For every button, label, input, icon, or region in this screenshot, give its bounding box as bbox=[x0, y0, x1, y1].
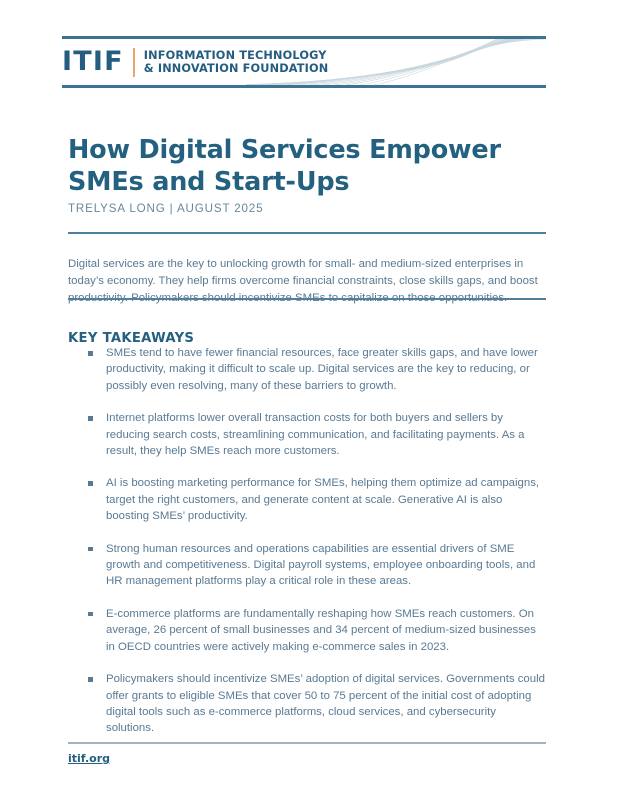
bullet-square-icon bbox=[88, 351, 93, 356]
list-item: SMEs tend to have fewer financial resour… bbox=[68, 345, 546, 394]
footer-rule bbox=[68, 742, 546, 744]
header-inner: ITIF INFORMATION TECHNOLOGY & INNOVATION… bbox=[62, 39, 546, 85]
logo-divider bbox=[133, 48, 135, 77]
bullet-square-icon bbox=[88, 416, 93, 421]
list-item: Policymakers should incentivize SMEs’ ad… bbox=[68, 671, 546, 737]
list-item-text: Policymakers should incentivize SMEs’ ad… bbox=[106, 671, 546, 737]
bullet-square-icon bbox=[88, 547, 93, 552]
list-item-text: Strong human resources and operations ca… bbox=[106, 541, 546, 590]
list-item-text: Internet platforms lower overall transac… bbox=[106, 410, 546, 459]
logo-tagline: INFORMATION TECHNOLOGY & INNOVATION FOUN… bbox=[144, 49, 329, 76]
byline: TRELYSA LONG | AUGUST 2025 bbox=[68, 202, 263, 215]
bullet-square-icon bbox=[88, 612, 93, 617]
bullet-square-icon bbox=[88, 481, 93, 486]
list-item: E-commerce platforms are fundamentally r… bbox=[68, 606, 546, 655]
document-page: ITIF INFORMATION TECHNOLOGY & INNOVATION… bbox=[0, 0, 618, 800]
list-item-text: SMEs tend to have fewer financial resour… bbox=[106, 345, 546, 394]
list-item: AI is boosting marketing performance for… bbox=[68, 475, 546, 524]
list-item: Internet platforms lower overall transac… bbox=[68, 410, 546, 459]
list-item-text: E-commerce platforms are fundamentally r… bbox=[106, 606, 546, 655]
bullet-square-icon bbox=[88, 677, 93, 682]
page-title: How Digital Services Empower SMEs and St… bbox=[68, 134, 538, 198]
key-takeaways-list: SMEs tend to have fewer financial resour… bbox=[68, 345, 546, 737]
list-item-text: AI is boosting marketing performance for… bbox=[106, 475, 546, 524]
section-heading-key-takeaways: KEY TAKEAWAYS bbox=[68, 331, 194, 346]
logo-wordmark: ITIF bbox=[62, 48, 124, 77]
abstract-rule-top bbox=[68, 232, 546, 234]
logo-tagline-line-2: & INNOVATION FOUNDATION bbox=[144, 62, 329, 75]
itif-logo: ITIF INFORMATION TECHNOLOGY & INNOVATION… bbox=[62, 39, 328, 85]
list-item: Strong human resources and operations ca… bbox=[68, 541, 546, 590]
logo-tagline-line-1: INFORMATION TECHNOLOGY bbox=[144, 49, 327, 62]
page-header: ITIF INFORMATION TECHNOLOGY & INNOVATION… bbox=[62, 36, 546, 88]
header-rule-bottom bbox=[62, 85, 546, 88]
footer-website-link[interactable]: itif.org bbox=[68, 752, 110, 765]
abstract-rule-bottom bbox=[68, 298, 546, 300]
